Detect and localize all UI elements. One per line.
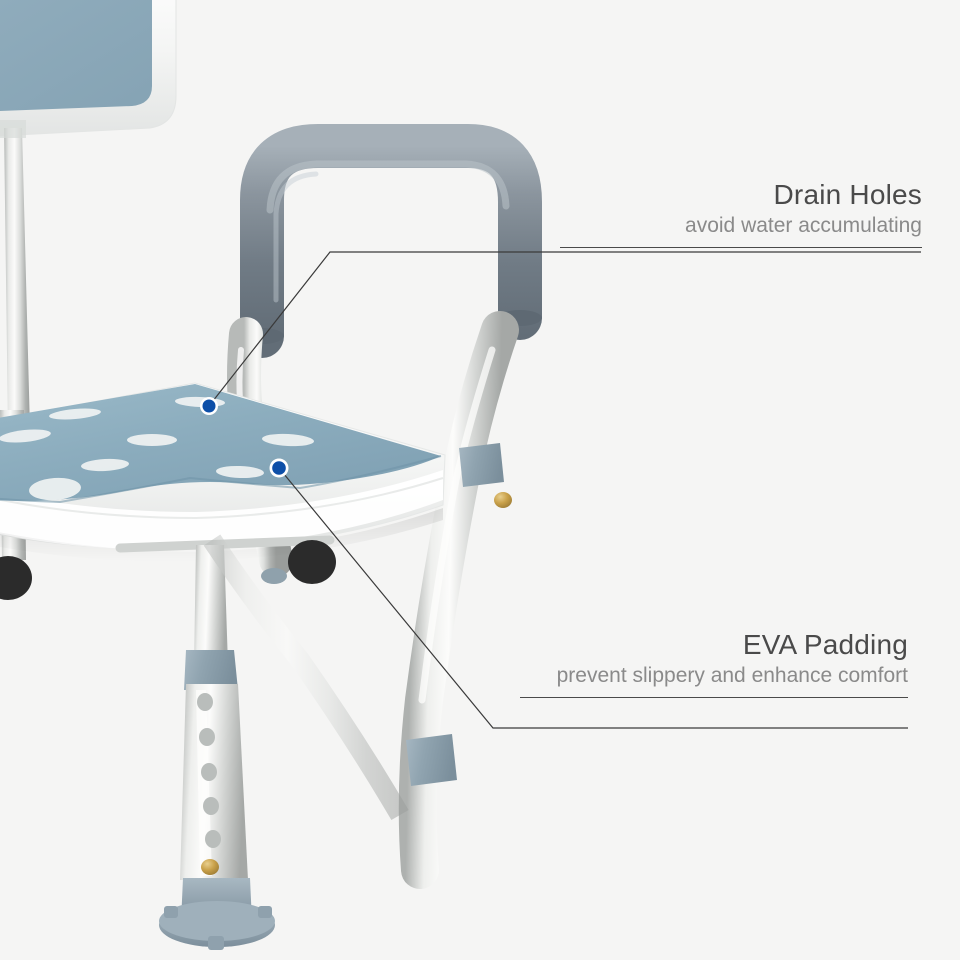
product-feature-image: Drain Holes avoid water accumulating EVA… xyxy=(0,0,960,960)
callout-eva-padding: EVA Padding prevent slippery and enhance… xyxy=(520,630,908,698)
callout-drain-holes-subtitle: avoid water accumulating xyxy=(560,214,922,238)
leader-lines-layer xyxy=(0,0,960,960)
callout-eva-padding-rule xyxy=(520,697,908,698)
callout-drain-holes-title: Drain Holes xyxy=(560,180,922,210)
leader-line-drain-holes xyxy=(209,252,921,406)
callout-drain-holes-rule xyxy=(560,247,922,248)
callout-drain-holes: Drain Holes avoid water accumulating xyxy=(560,180,922,248)
callout-eva-padding-title: EVA Padding xyxy=(520,630,908,660)
callout-eva-padding-subtitle: prevent slippery and enhance comfort xyxy=(520,664,908,688)
marker-drain-hole[interactable] xyxy=(200,397,218,415)
marker-eva-pad[interactable] xyxy=(270,459,289,478)
